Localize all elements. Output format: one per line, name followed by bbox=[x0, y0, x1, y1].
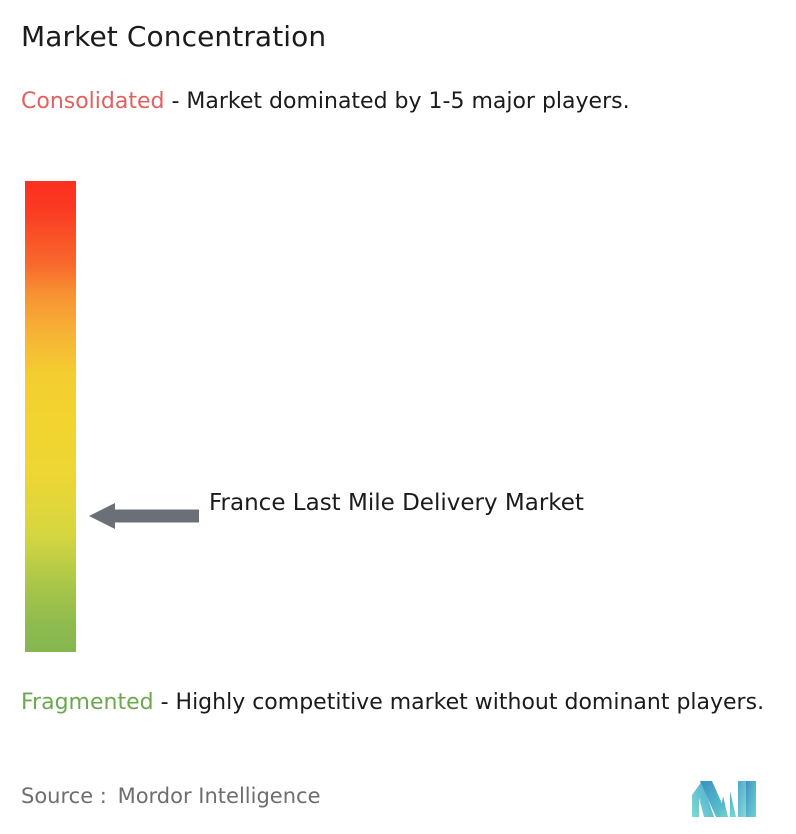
mordor-intelligence-logo bbox=[690, 775, 762, 823]
legend-fragmented-description: - Highly competitive market without domi… bbox=[161, 690, 764, 715]
legend-fragmented: Fragmented- Highly competitive market wi… bbox=[21, 687, 781, 719]
legend-fragmented-keyword: Fragmented bbox=[21, 690, 154, 715]
page-title: Market Concentration bbox=[21, 20, 326, 54]
source-attribution: Source : Mordor Intelligence bbox=[21, 782, 320, 810]
legend-consolidated-description: - Market dominated by 1-5 major players. bbox=[171, 89, 629, 114]
source-value: Mordor Intelligence bbox=[118, 784, 321, 808]
legend-consolidated-keyword: Consolidated bbox=[21, 89, 164, 114]
market-concentration-chart: Market Concentration Consolidated- Marke… bbox=[0, 0, 796, 834]
source-label: Source : bbox=[21, 784, 107, 808]
legend-consolidated: Consolidated- Market dominated by 1-5 ma… bbox=[21, 86, 761, 118]
footer: Source : Mordor Intelligence bbox=[0, 775, 796, 834]
marker-label: France Last Mile Delivery Market bbox=[209, 485, 639, 521]
left-arrow-icon bbox=[89, 503, 199, 529]
concentration-gradient-bar bbox=[25, 181, 76, 652]
